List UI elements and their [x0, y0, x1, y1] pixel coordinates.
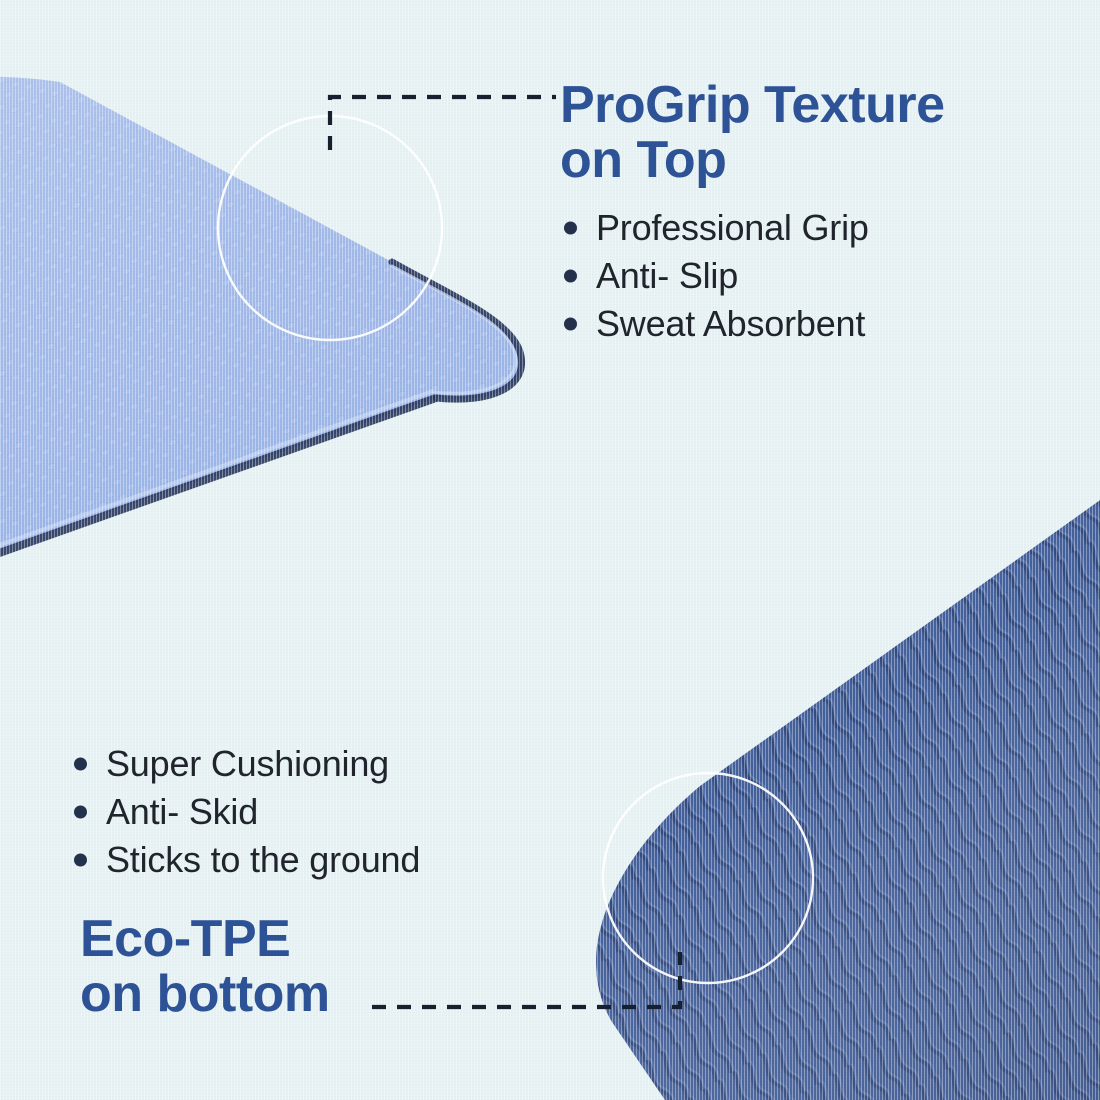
- bullet-dot-icon: [564, 222, 577, 235]
- bullet-dot-icon: [564, 317, 577, 330]
- product-feature-graphic: ProGrip Texture on Top Professional Grip…: [0, 0, 1100, 1100]
- feature-label: Anti- Skid: [106, 791, 258, 832]
- progrip-feature-list: Professional Grip Anti- Slip Sweat Absor…: [560, 204, 945, 348]
- bullet-dot-icon: [74, 757, 87, 770]
- feature-label: Sweat Absorbent: [596, 303, 865, 344]
- list-item: Sweat Absorbent: [560, 300, 945, 348]
- eco-tpe-feature-block: Super Cushioning Anti- Skid Sticks to th…: [70, 740, 420, 884]
- list-item: Super Cushioning: [70, 740, 420, 788]
- eco-tpe-heading: Eco-TPE on bottom: [80, 912, 330, 1022]
- list-item: Professional Grip: [560, 204, 945, 252]
- bullet-dot-icon: [74, 805, 87, 818]
- bullet-dot-icon: [564, 270, 577, 283]
- progrip-text-block: ProGrip Texture on Top Professional Grip…: [560, 78, 945, 348]
- progrip-heading: ProGrip Texture on Top: [560, 78, 945, 188]
- feature-label: Professional Grip: [596, 207, 869, 248]
- feature-label: Super Cushioning: [106, 743, 389, 784]
- eco-tpe-feature-list: Super Cushioning Anti- Skid Sticks to th…: [70, 740, 420, 884]
- eco-tpe-heading-block: Eco-TPE on bottom: [80, 912, 330, 1022]
- bullet-dot-icon: [74, 853, 87, 866]
- feature-label: Anti- Slip: [596, 255, 738, 296]
- list-item: Anti- Skid: [70, 788, 420, 836]
- dark-blue-yoga-mat: [520, 380, 1100, 1100]
- list-item: Anti- Slip: [560, 252, 945, 300]
- list-item: Sticks to the ground: [70, 836, 420, 884]
- feature-label: Sticks to the ground: [106, 839, 420, 880]
